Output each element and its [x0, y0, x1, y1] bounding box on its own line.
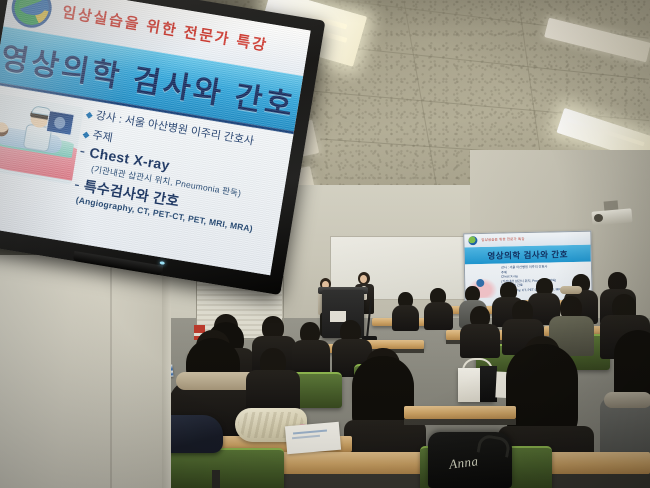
projector-lens-icon — [594, 214, 603, 222]
audience-body — [292, 340, 330, 376]
screen2-kicker: 임상실습을 위한 전문가 특강 — [481, 236, 524, 242]
wall-mounted-tv: 임상실습을 위한 전문가 특강 영상의학 검사와 간호 — [0, 0, 325, 307]
tv-power-led-icon — [160, 261, 165, 265]
pillar-edge — [162, 255, 171, 488]
diamond-bullet-icon: ◆ — [82, 129, 90, 140]
audience-body — [460, 324, 500, 358]
wall-pillar — [0, 255, 169, 488]
screen2-title: 영상의학 검사와 간호 — [487, 248, 568, 262]
presenter-face — [360, 275, 367, 283]
slide-bullet-text: 주제 — [92, 129, 114, 144]
university-emblem-icon — [9, 0, 55, 31]
audience-body — [392, 305, 419, 331]
tv-screen: 임상실습을 위한 전문가 특강 영상의학 검사와 간호 — [0, 0, 311, 275]
pillar-seam — [110, 255, 112, 488]
diamond-bullet-icon: ◆ — [85, 109, 93, 120]
chair-front — [166, 448, 284, 488]
screen2-header: 임상실습을 위한 전문가 특강 — [464, 232, 590, 248]
desk — [404, 406, 516, 419]
xray-film-icon — [46, 110, 75, 136]
lectern-paper — [330, 311, 346, 322]
lecture-hall-photo: 임상실습을 위한 전문가 특강 영상의학 검사와 간호 강사 : 서울 아산병원… — [0, 0, 650, 488]
dash-bullet-icon: - — [73, 176, 81, 194]
dash-bullet-icon: - — [79, 143, 87, 161]
audience-body — [424, 302, 453, 330]
fur-hood-trim — [604, 392, 650, 408]
fur-collar — [560, 286, 582, 294]
university-emblem-icon — [468, 236, 477, 245]
desk-edge — [404, 419, 516, 425]
chair-leg — [212, 470, 220, 488]
doctor-with-xray-illustration — [0, 93, 84, 185]
